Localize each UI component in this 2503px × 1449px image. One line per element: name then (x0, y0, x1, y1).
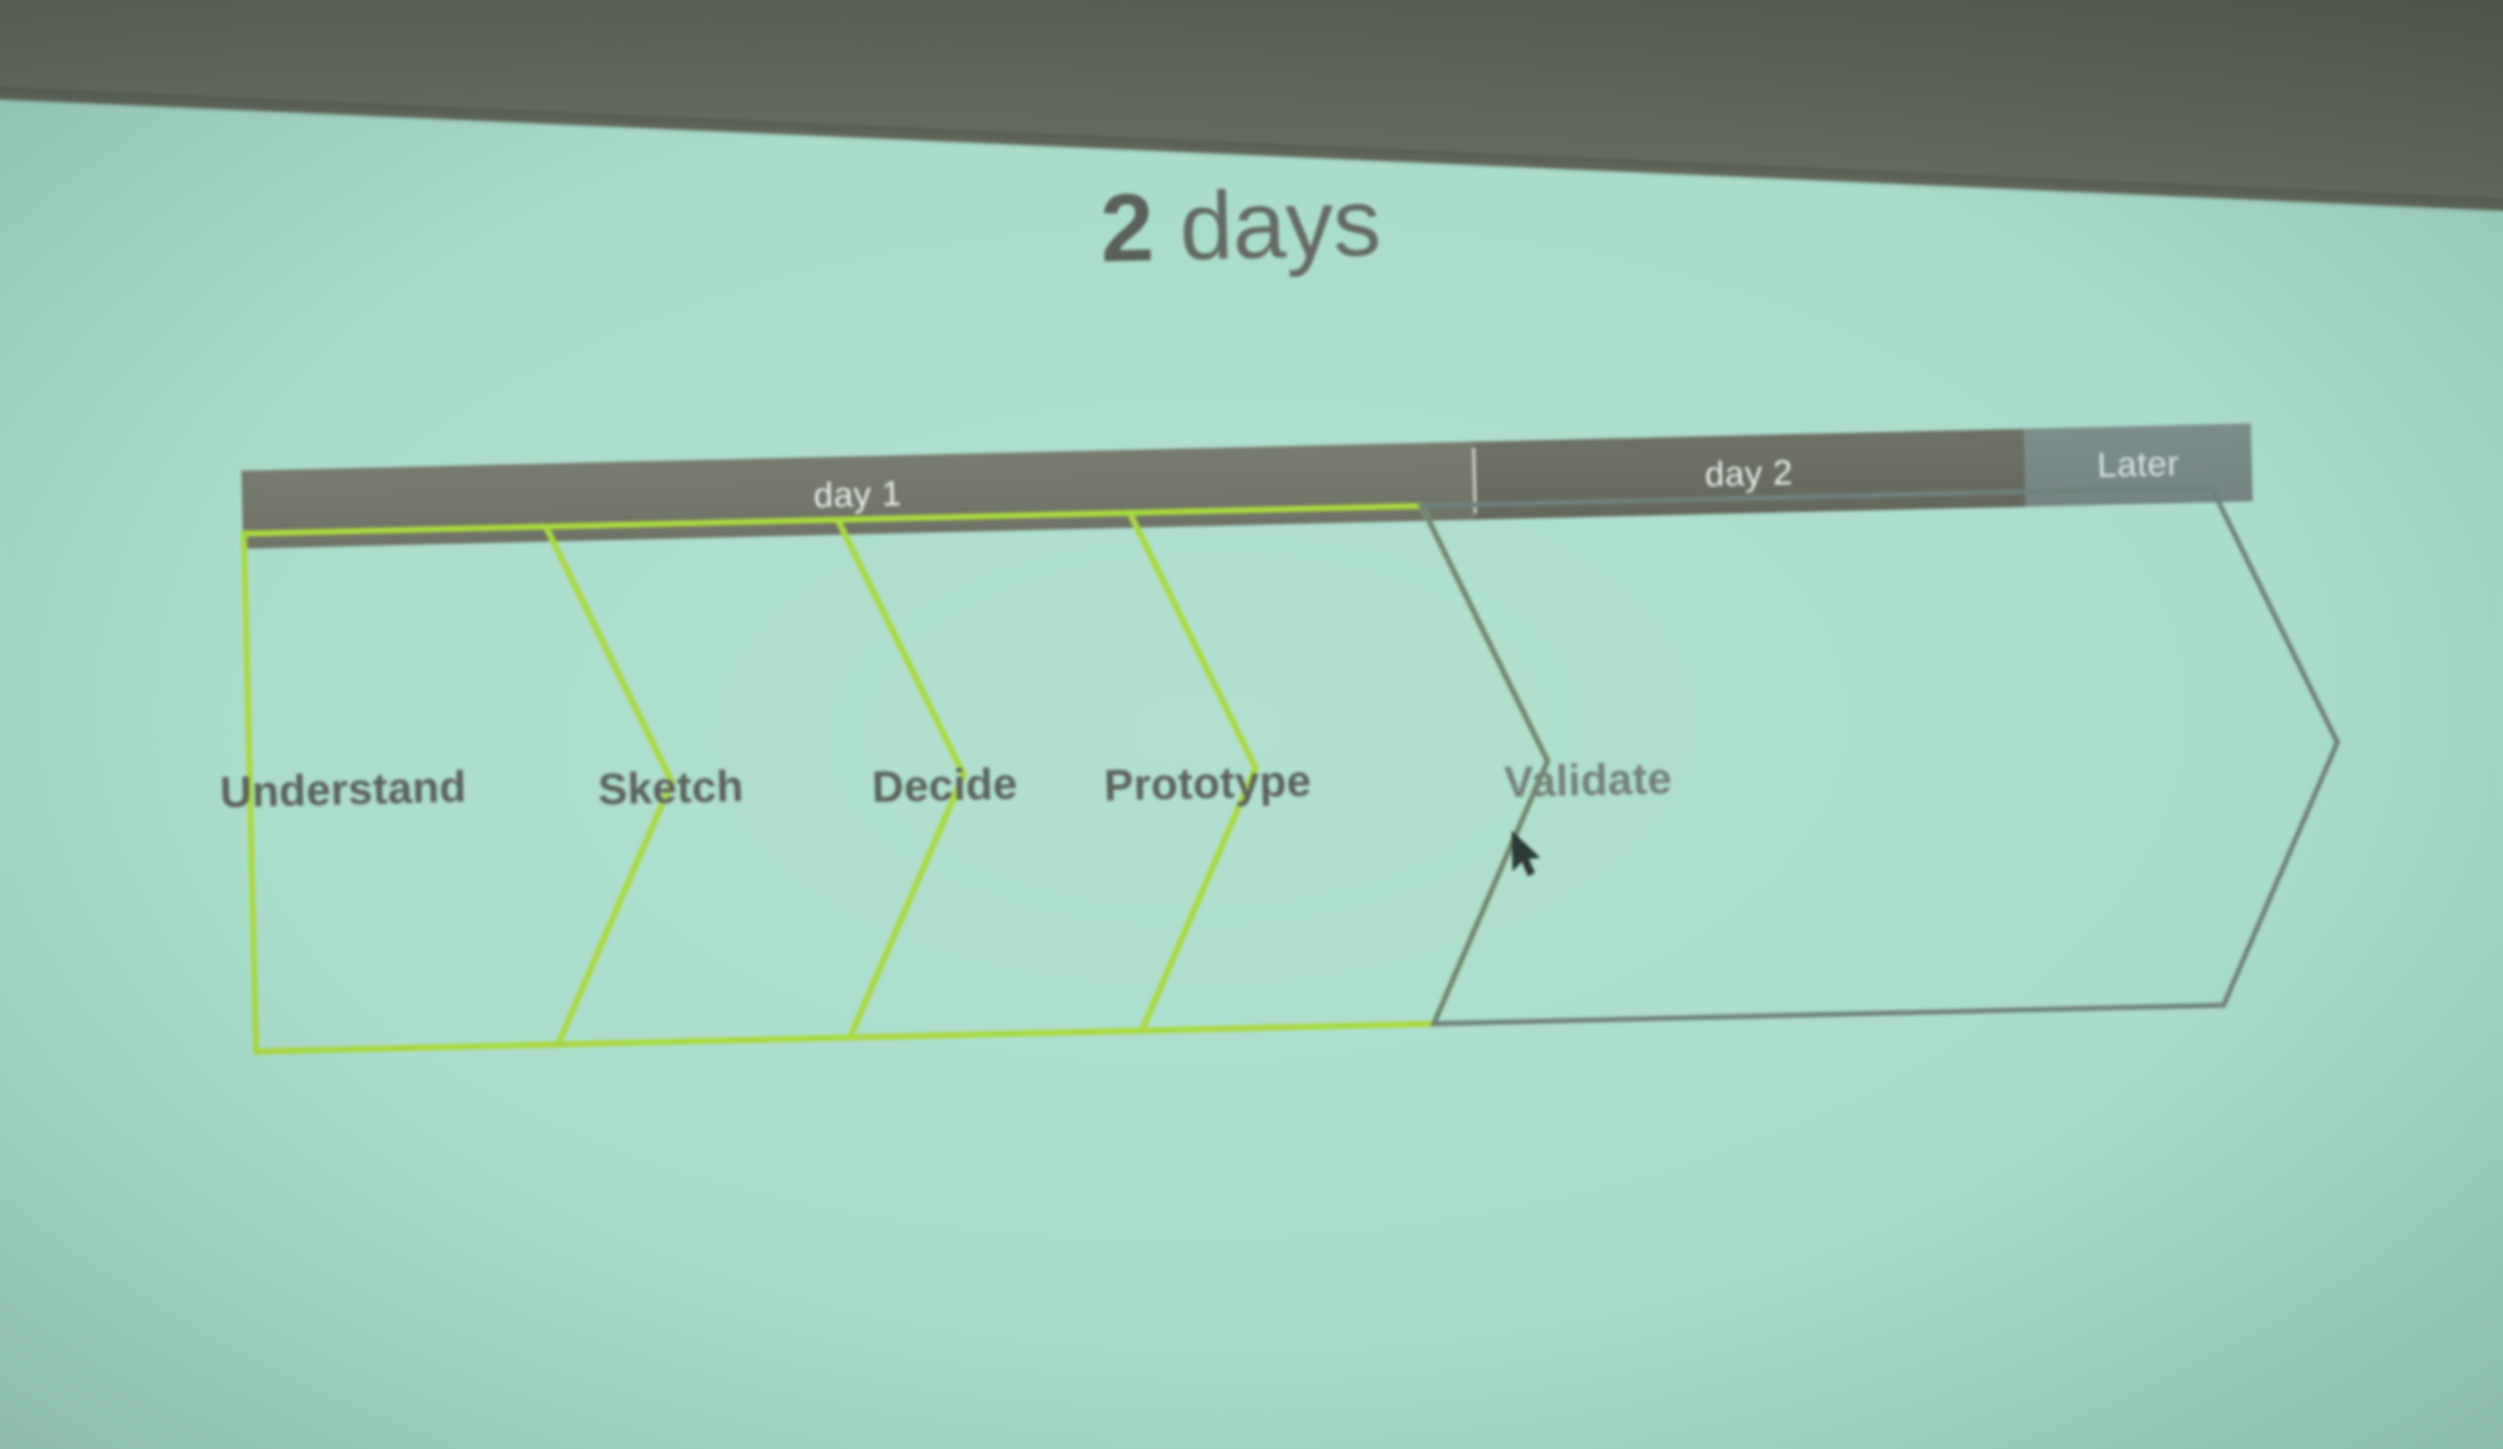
title-number: 2 (1099, 174, 1154, 282)
process-flow: Understand Sketch Decide Prototype Valid… (226, 469, 2503, 1064)
page-title: 2 days (0, 149, 2493, 304)
title-word: days (1152, 169, 1381, 281)
chevron-label-validate: Validate (1504, 754, 1673, 808)
chevron-label-decide: Decide (871, 760, 1018, 813)
process-flow-svg (226, 469, 2503, 1064)
presentation-slide: 2 days day 1 day 2 Later (0, 0, 2503, 1449)
chevron-label-prototype: Prototype (1104, 757, 1312, 812)
screenshot-stage: 2 days day 1 day 2 Later (0, 0, 2503, 1449)
chevron-label-understand: Understand (219, 763, 467, 819)
chevron-shape-validate (1422, 485, 2344, 1024)
chevron-label-sketch: Sketch (597, 762, 744, 815)
mouse-pointer-icon (1509, 829, 1544, 882)
